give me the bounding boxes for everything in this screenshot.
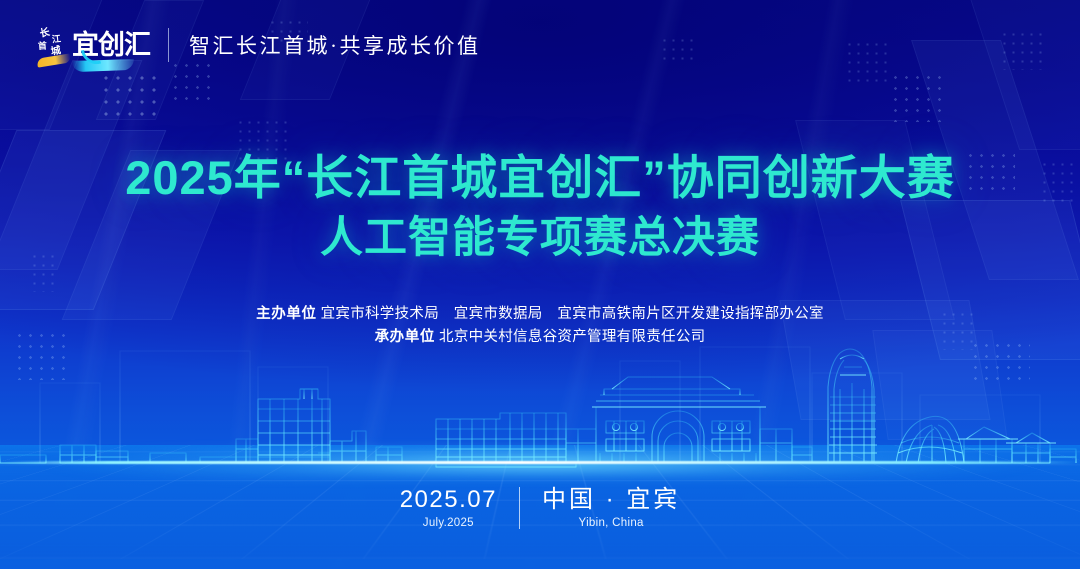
event-title-line-1: 2025年“长江首城宜创汇”协同创新大赛 (0, 150, 1080, 205)
logo-cal-char-2: 江 (52, 35, 62, 45)
event-meta-footer: 2025.07 July.2025 中国 · 宜宾 Yibin, China (0, 487, 1080, 529)
event-title-block: 2025年“长江首城宜创汇”协同创新大赛 人工智能专项赛总决赛 (0, 150, 1080, 264)
event-date: 2025.07 July.2025 (400, 487, 497, 529)
header-divider (168, 28, 169, 62)
organizer-label-host: 主办单位 (256, 306, 316, 322)
organizer-label-undertaker: 承办单位 (375, 329, 435, 345)
brand-header: 长 江 首 城 宜创汇 智汇长江首城·共享成长价值 (38, 22, 481, 68)
event-date-cn: 2025.07 (400, 487, 497, 514)
event-location: 中国 · 宜宾 Yibin, China (542, 487, 680, 529)
brand-tagline: 智汇长江首城·共享成长价值 (189, 30, 481, 60)
logo-cyan-swoosh-icon (72, 59, 134, 72)
logo-calligraphy-mark: 长 江 首 城 (38, 24, 70, 66)
organizer-row-undertaker: 承办单位 北京中关村信息谷资产管理有限责任公司 (0, 326, 1080, 349)
event-location-cn: 中国 · 宜宾 (542, 487, 680, 514)
yichuanghui-logo[interactable]: 长 江 首 城 宜创汇 (38, 22, 142, 68)
horizon-line (0, 461, 1080, 464)
organizer-row-host: 主办单位 宜宾市科学技术局 宜宾市数据局 宜宾市高铁南片区开发建设指挥部办公室 (0, 303, 1080, 326)
logo-gold-brush-stroke (37, 53, 72, 67)
event-location-en: Yibin, China (579, 517, 644, 529)
logo-cal-char-3: 首 (38, 42, 48, 52)
organizer-value-host: 宜宾市科学技术局 宜宾市数据局 宜宾市高铁南片区开发建设指挥部办公室 (321, 306, 824, 322)
event-date-en: July.2025 (423, 517, 474, 529)
organizer-value-undertaker: 北京中关村信息谷资产管理有限责任公司 (439, 329, 705, 345)
poster-canvas: 长 江 首 城 宜创汇 智汇长江首城·共享成长价值 2025年“长江首城宜创汇”… (0, 0, 1080, 569)
logo-cal-char-1: 长 (39, 28, 51, 40)
event-title-line-2: 人工智能专项赛总决赛 (0, 213, 1080, 264)
organizer-block: 主办单位 宜宾市科学技术局 宜宾市数据局 宜宾市高铁南片区开发建设指挥部办公室 … (0, 303, 1080, 349)
footer-divider (519, 487, 520, 529)
